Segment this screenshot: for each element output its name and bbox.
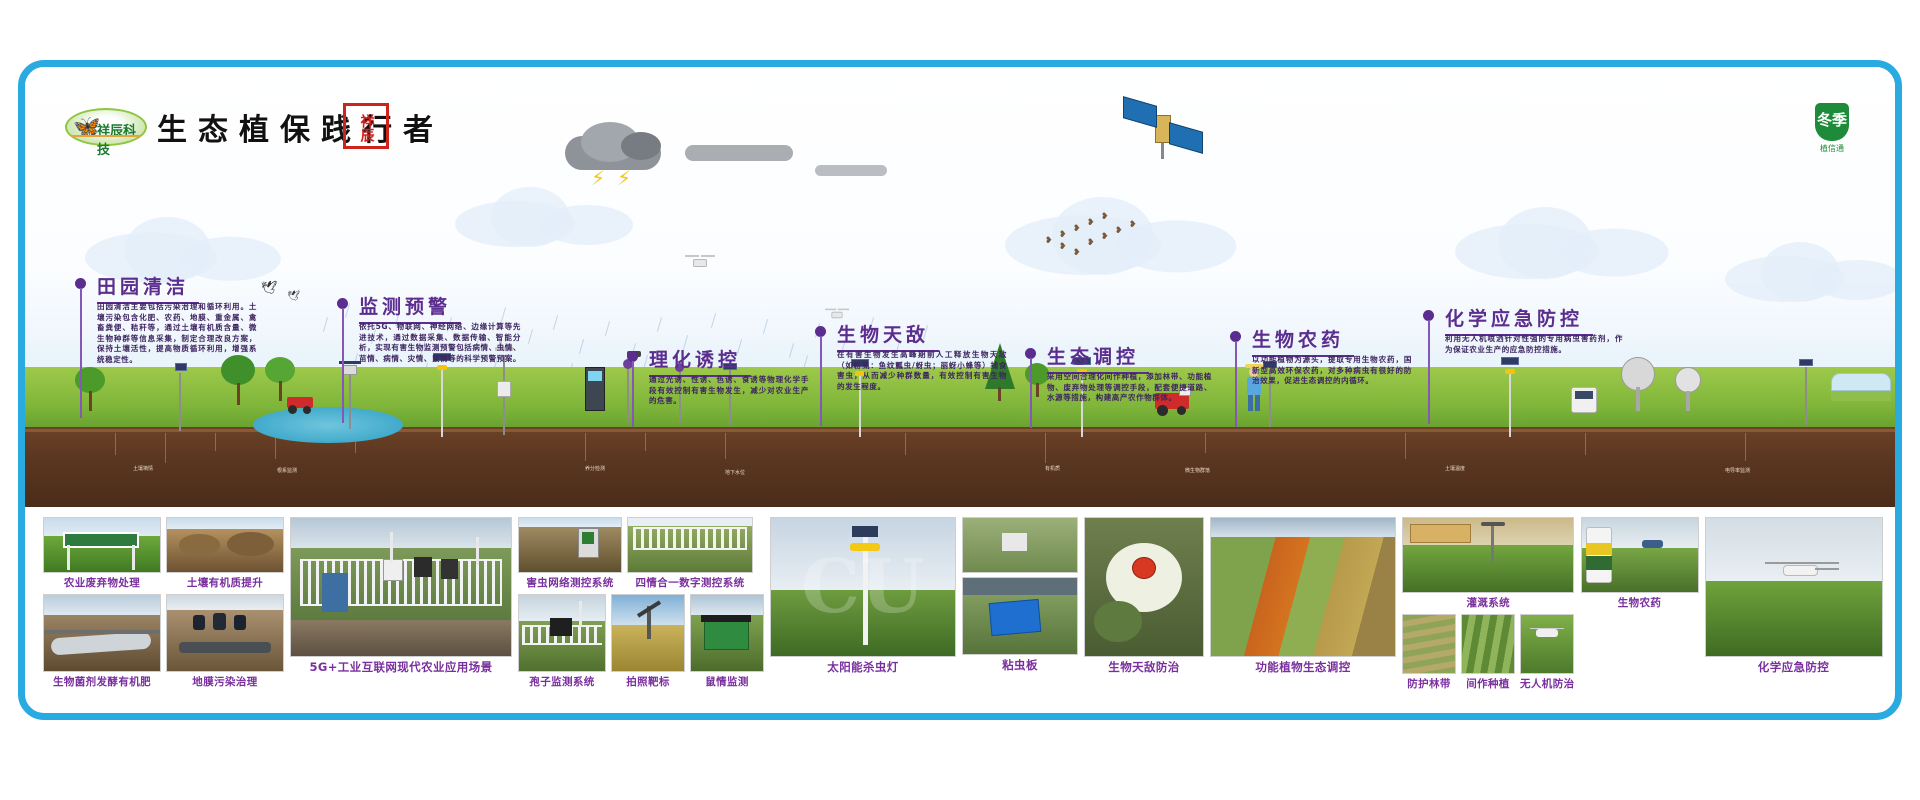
soil-tag: 养分检测 [585, 465, 605, 472]
photo-caption: 土壤有机质提升 [166, 575, 284, 590]
soil-tag: 土壤墒情 [133, 465, 153, 472]
photo-cell[interactable] [962, 517, 1078, 573]
photo-group-jiance: 害虫网络测控系统 四情合一数字测控系统 [518, 517, 764, 701]
callout-body: 依托5G、物联网、神经网络、边缘计算等先进技术，通过数据采集、数据传输、智能分析… [359, 322, 521, 364]
callout-body: 通过光诱、性诱、色诱、食诱等物理化学手段有效控制有害生物发生，减少对农业生产的危… [649, 375, 809, 407]
soil-tag: 微生物群落 [1185, 467, 1210, 474]
photo-cell[interactable]: 土壤有机质提升 [166, 517, 284, 590]
photo-caption: 5G+工业互联网现代农业应用场景 [290, 659, 512, 675]
photo-caption: 生物天敌防治 [1084, 659, 1204, 675]
callout-body: 采用空间合理化间作种植，添加林带、功能植物、废弃物处理等调控手段，配套便捷道路、… [1047, 372, 1212, 404]
photo-cell[interactable]: 生物农药 [1581, 517, 1699, 610]
pond-illustration [253, 407, 403, 443]
soil-tag: 土壤温度 [1445, 465, 1465, 472]
photo-caption: 粘虫板 [962, 657, 1078, 673]
photo-group-lamp: CU 太阳能杀虫灯 [770, 517, 956, 701]
callout-title: 生物天敌 [837, 320, 939, 352]
photo-cell[interactable]: 孢子监测系统 [518, 594, 606, 689]
photo-caption: 农业废弃物处理 [43, 575, 161, 590]
photo-caption: 地膜污染治理 [166, 674, 284, 689]
shield-icon: 冬季 [1815, 103, 1849, 141]
photo-caption: 化学应急防控 [1705, 659, 1883, 675]
photo-cell[interactable]: 灌溉系统 [1402, 517, 1575, 610]
photo-group-tiandi: 生物天敌防治 [1084, 517, 1204, 701]
soil-tag: 根系监测 [277, 467, 297, 474]
photo-caption: 生物农药 [1581, 595, 1699, 610]
photo-cell[interactable]: CU 太阳能杀虫灯 [770, 517, 956, 675]
photo-cell[interactable]: 生物天敌防治 [1084, 517, 1204, 675]
photo-cell[interactable]: 粘虫板 [962, 577, 1078, 673]
callout-stem [80, 288, 82, 418]
photo-caption: 功能植物生态调控 [1210, 659, 1396, 675]
red-seal-stamp: 祥辰 [343, 103, 389, 149]
photo-cell[interactable]: 四情合一数字测控系统 [627, 517, 753, 590]
poster-frame: ⚡ ⚡ [18, 60, 1902, 720]
photo-group-guangai: 灌溉系统 防护林带 间作种植 [1402, 517, 1575, 701]
photo-caption: 四情合一数字测控系统 [627, 575, 753, 590]
partner-badge: 冬季 植信通 [1809, 103, 1855, 154]
callout-body: 以功能植物为源头，提取专用生物农药，国新型高效环保农药，对多种病虫有很好的防治效… [1252, 355, 1412, 387]
photo-cell[interactable]: 生物菌剂发酵有机肥 [43, 594, 161, 689]
swallow-icon: 🕊 [261, 281, 278, 296]
poster-root: ⚡ ⚡ [0, 0, 1920, 800]
soil-tag: 电导率监测 [1725, 467, 1750, 474]
gray-cloud-icon [815, 165, 887, 176]
page-title: 生态植保践行者 [157, 105, 444, 149]
photo-caption: 无人机防治 [1520, 676, 1575, 691]
illustration-scene: ⚡ ⚡ [25, 67, 1895, 507]
photo-caption: 鼠情监测 [690, 674, 764, 689]
swallow-icon: 🕊 [287, 291, 300, 302]
photo-cell[interactable]: 鼠情监测 [690, 594, 764, 689]
soil-tag: 有机质 [1045, 465, 1060, 472]
callout-body: 利用无人机喷洒针对性强的专用病虫害药剂，作为保证农业生产的应急防控措施。 [1445, 334, 1623, 355]
logo-company-name: 祥辰科技 [97, 120, 145, 158]
callout-title: 生物农药 [1252, 325, 1354, 357]
photo-group-zhanchongban: 粘虫板 [962, 517, 1078, 701]
photo-cell[interactable]: 农业废弃物处理 [43, 517, 161, 590]
butterfly-icon: 🦋 [73, 115, 99, 141]
callout-stem [342, 308, 344, 423]
photo-cell[interactable]: 5G+工业互联网现代农业应用场景 [290, 517, 512, 675]
callout-title: 田园清洁 [97, 272, 199, 304]
callout-body: 在有害生物发生高峰期前人工释放生物天敌（如粉虱：鱼纹瓢虫/蚜虫；丽蚜小蜂等）捕食… [837, 350, 1007, 392]
soil-tag: 地下水位 [725, 469, 745, 476]
photo-caption: 灌溉系统 [1402, 595, 1575, 610]
photo-strip: 农业废弃物处理 土壤有机质提升 [39, 513, 1881, 705]
callout-title: 监测预警 [359, 292, 461, 324]
photo-cell[interactable]: 功能植物生态调控 [1210, 517, 1396, 675]
photo-cell[interactable]: 化学应急防控 [1705, 517, 1883, 675]
photo-cell[interactable]: 间作种植 [1461, 614, 1515, 691]
photo-group-gongneng: 功能植物生态调控 [1210, 517, 1396, 701]
callout-stem [1235, 341, 1237, 427]
photo-caption: 拍照靶标 [611, 674, 685, 689]
photo-cell[interactable]: 害虫网络测控系统 [518, 517, 622, 590]
gray-cloud-icon [685, 145, 793, 161]
callout-title: 理化诱控 [649, 345, 751, 377]
photo-caption: 防护林带 [1402, 676, 1456, 691]
callout-stem [632, 361, 634, 427]
callout-title: 化学应急防控 [1445, 304, 1593, 336]
photo-group-yingji: 化学应急防控 [1705, 517, 1883, 701]
photo-caption: 太阳能杀虫灯 [770, 659, 956, 675]
photo-cell[interactable]: 地膜污染治理 [166, 594, 284, 689]
photo-caption: 生物菌剂发酵有机肥 [43, 674, 161, 689]
callout-stem [1030, 358, 1032, 428]
photo-cell[interactable]: 无人机防治 [1520, 614, 1575, 691]
callout-body: 田园清洁主要包括污染治理和循环利用。土壤污染包含化肥、农药、地膜、重金属、禽畜粪… [97, 302, 257, 365]
watermark: CU [771, 518, 955, 656]
photo-group-5g: 5G+工业互联网现代农业应用场景 [290, 517, 512, 701]
partner-badge-caption: 植信通 [1809, 143, 1855, 154]
photo-caption: 间作种植 [1461, 676, 1515, 691]
callout-stem [1428, 320, 1430, 424]
photo-cell[interactable]: 拍照靶标 [611, 594, 685, 689]
callout-title: 生态调控 [1047, 342, 1149, 374]
photo-caption: 孢子监测系统 [518, 674, 606, 689]
photo-group-shengwunongyao: 生物农药 [1581, 517, 1699, 701]
photo-cell[interactable]: 防护林带 [1402, 614, 1456, 691]
company-logo: 🦋 祥辰科技 [65, 108, 147, 146]
photo-caption: 害虫网络测控系统 [518, 575, 622, 590]
photo-group-tianyuan: 农业废弃物处理 土壤有机质提升 [43, 517, 284, 701]
callout-stem [820, 336, 822, 426]
